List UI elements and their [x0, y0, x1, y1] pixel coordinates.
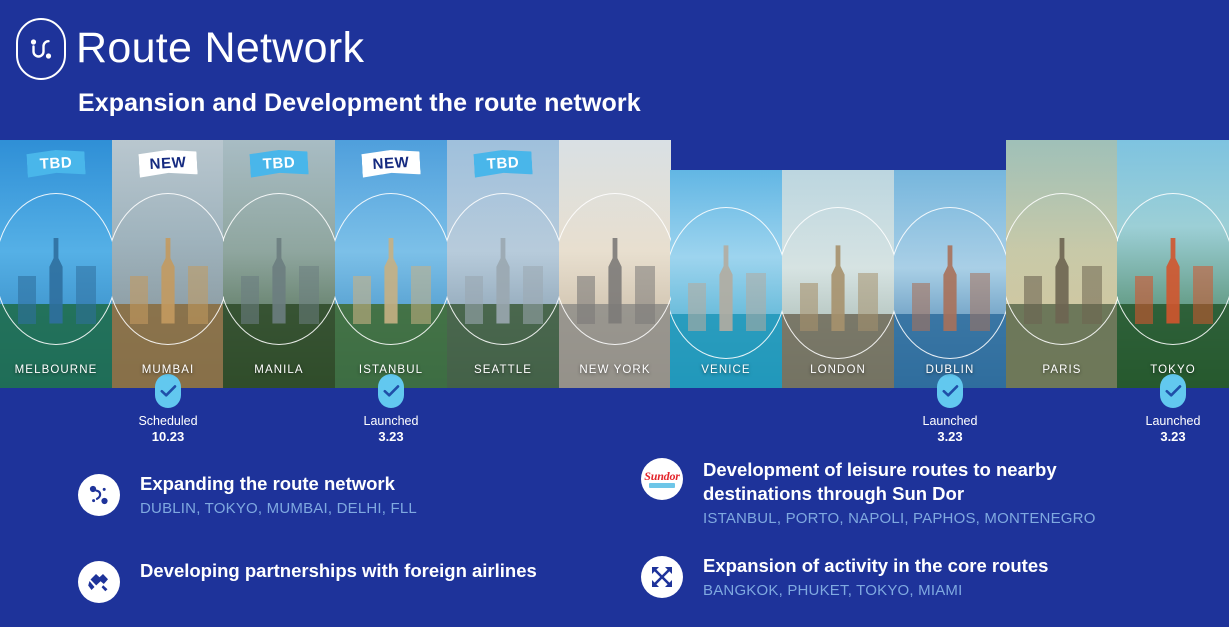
city-label: ISTANBUL [335, 364, 447, 376]
sundor-logo-icon: Sundor [641, 458, 683, 500]
page-subtitle: Expansion and Development the route netw… [78, 89, 641, 118]
status-date: 3.23 [1103, 429, 1229, 444]
city-panel-manila[interactable]: MANILA [223, 140, 335, 388]
feature-destinations: BANGKOK, PHUKET, TOKYO, MIAMI [703, 580, 1048, 602]
city-label: LONDON [782, 364, 894, 376]
city-label: DUBLIN [894, 364, 1006, 376]
status-label: Launched [880, 414, 1020, 429]
feature-title: Developing partnerships with foreign air… [140, 559, 537, 583]
status-label: Launched [1103, 414, 1229, 429]
city-skyline-block [800, 283, 818, 331]
city-label: SEATTLE [447, 364, 559, 376]
city-skyline-block [411, 266, 431, 324]
feature-destinations: DUBLIN, TOKYO, MUMBAI, DELHI, FLL [140, 498, 417, 520]
status-date: 3.23 [880, 429, 1020, 444]
city-skyline-block [1135, 276, 1153, 324]
feature-text: Development of leisure routes to nearby … [703, 458, 1096, 530]
slide-header: Route Network Expansion and Development … [0, 0, 1229, 140]
city-skyline-block [130, 276, 148, 324]
status-label: Scheduled [98, 414, 238, 429]
route-network-slide: Route Network Expansion and Development … [0, 0, 1229, 627]
city-skyline-block [970, 273, 990, 331]
sundor-wordmark: Sundor [644, 470, 680, 482]
status-marker-mumbai[interactable]: Scheduled10.23 [98, 374, 238, 444]
feature-partnerships[interactable]: Developing partnerships with foreign air… [78, 559, 598, 603]
city-panel-seattle[interactable]: SEATTLE [447, 140, 559, 388]
city-label: PARIS [1006, 364, 1118, 376]
city-label: MANILA [223, 364, 335, 376]
status-marker-istanbul[interactable]: Launched3.23 [321, 374, 461, 444]
route-pin-logo-icon [16, 18, 66, 80]
city-skyline-block [912, 283, 930, 331]
city-skyline-block [1024, 276, 1042, 324]
city-panel-mumbai[interactable]: MUMBAI [112, 140, 224, 388]
feature-sundor-leisure-routes[interactable]: Sundor Development of leisure routes to … [641, 458, 1121, 530]
city-skyline-block [353, 276, 371, 324]
feature-text: Developing partnerships with foreign air… [140, 559, 537, 585]
city-skyline-block [577, 276, 595, 324]
city-label: VENICE [670, 364, 782, 376]
city-skyline-block [1193, 266, 1213, 324]
feature-title: Expanding the route network [140, 472, 417, 496]
city-skyline-block [1082, 266, 1102, 324]
handshake-icon [78, 561, 120, 603]
city-panel-new-york[interactable]: NEW YORK [559, 140, 671, 388]
city-skyline-block [858, 273, 878, 331]
check-icon [937, 374, 963, 408]
status-label: Launched [321, 414, 461, 429]
status-date: 3.23 [321, 429, 461, 444]
city-panel-dublin[interactable]: DUBLIN [894, 170, 1006, 388]
status-marker-tokyo[interactable]: Launched3.23 [1103, 374, 1229, 444]
status-marker-row: Scheduled10.23Launched3.23Launched3.23La… [0, 374, 1229, 454]
check-icon [1160, 374, 1186, 408]
feature-destinations: ISTANBUL, PORTO, NAPOLI, PAPHOS, MONTENE… [703, 508, 1096, 530]
city-skyline-block [76, 266, 96, 324]
feature-text: Expansion of activity in the core routes… [703, 554, 1048, 602]
status-marker-dublin[interactable]: Launched3.23 [880, 374, 1020, 444]
city-label: NEW YORK [559, 364, 671, 376]
city-skyline-block [688, 283, 706, 331]
feature-title: Development of leisure routes to nearby … [703, 458, 1096, 506]
city-skyline-block [523, 266, 543, 324]
feature-expanding-route-network[interactable]: Expanding the route network DUBLIN, TOKY… [78, 472, 598, 520]
feature-title: Expansion of activity in the core routes [703, 554, 1048, 578]
city-label: MELBOURNE [0, 364, 112, 376]
city-label: MUMBAI [112, 364, 224, 376]
city-skyline-block [635, 266, 655, 324]
city-skyline-block [299, 266, 319, 324]
city-skyline-block [241, 276, 259, 324]
city-panel-melbourne[interactable]: MELBOURNE [0, 140, 112, 388]
feature-text: Expanding the route network DUBLIN, TOKY… [140, 472, 417, 520]
feature-core-routes-expansion[interactable]: Expansion of activity in the core routes… [641, 554, 1121, 602]
city-skyline-block [188, 266, 208, 324]
city-panel-london[interactable]: LONDON [782, 170, 894, 388]
page-title: Route Network [76, 20, 364, 76]
check-icon [378, 374, 404, 408]
city-panel-istanbul[interactable]: ISTANBUL [335, 140, 447, 388]
city-skyline-block [18, 276, 36, 324]
feature-list: Expanding the route network DUBLIN, TOKY… [0, 460, 1229, 627]
expand-arrows-icon [641, 556, 683, 598]
city-skyline-block [746, 273, 766, 331]
city-panel-paris[interactable]: PARIS [1006, 140, 1118, 388]
sundor-bar [649, 483, 675, 488]
city-panel-venice[interactable]: VENICE [670, 170, 782, 388]
route-network-icon [78, 474, 120, 516]
city-label: TOKYO [1117, 364, 1229, 376]
check-icon [155, 374, 181, 408]
city-photo-strip: MELBOURNETBDMUMBAINEWMANILATBDISTANBULNE… [0, 140, 1229, 388]
status-date: 10.23 [98, 429, 238, 444]
city-skyline-block [465, 276, 483, 324]
city-panel-tokyo[interactable]: TOKYO [1117, 140, 1229, 388]
